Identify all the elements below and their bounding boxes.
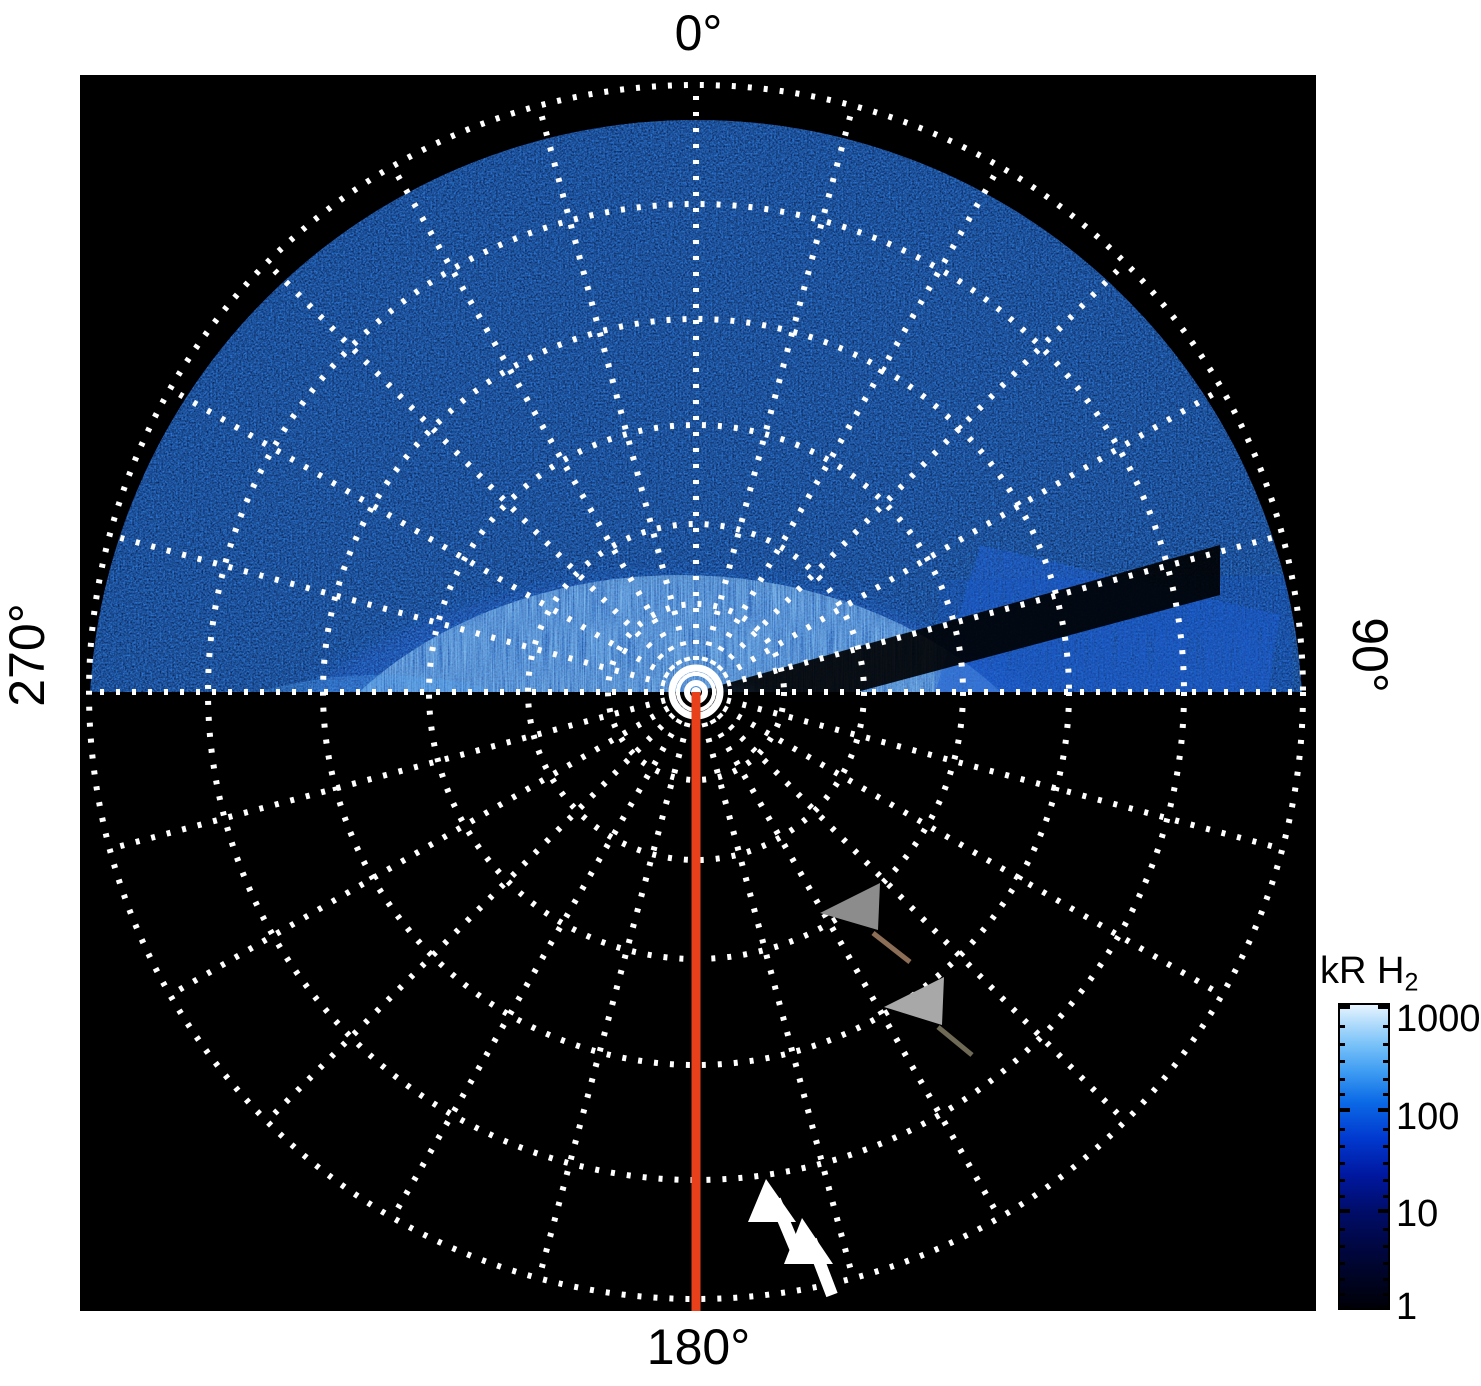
colorbar-minor-tick xyxy=(1338,1145,1345,1148)
polar-plot-canvas xyxy=(80,75,1316,1311)
colorbar-minor-tick xyxy=(1383,1128,1390,1131)
colorbar-minor-tick xyxy=(1383,1228,1390,1231)
colorbar-minor-tick xyxy=(1383,1043,1390,1046)
colorbar-minor-tick xyxy=(1383,1093,1390,1096)
colorbar-minor-tick xyxy=(1338,1293,1345,1296)
colorbar-minor-tick xyxy=(1338,1025,1345,1028)
colorbar-minor-tick xyxy=(1338,1162,1345,1165)
colorbar-ticklabel-1000: 1000 xyxy=(1396,1000,1481,1038)
axis-label-90deg: 90° xyxy=(1345,585,1395,725)
colorbar-ticklabel-1: 1 xyxy=(1396,1288,1417,1326)
colorbar-minor-tick xyxy=(1383,1195,1390,1198)
colorbar-minor-tick xyxy=(1383,1293,1390,1296)
polar-aurora-figure: 0° 180° 270° 90° xyxy=(0,0,1481,1386)
colorbar-minor-tick xyxy=(1338,1228,1345,1231)
colorbar-tick-1-right xyxy=(1378,1306,1390,1310)
colorbar-tick-10 xyxy=(1338,1209,1350,1213)
colorbar-title: kR H2 xyxy=(1320,950,1418,998)
colorbar-minor-tick xyxy=(1383,1162,1390,1165)
colorbar-minor-tick xyxy=(1383,1278,1390,1281)
colorbar-minor-tick xyxy=(1338,1078,1345,1081)
colorbar-minor-tick xyxy=(1383,1179,1390,1182)
colorbar-ticklabel-100: 100 xyxy=(1396,1098,1459,1136)
colorbar-minor-tick xyxy=(1338,1093,1345,1096)
colorbar: kR H2 xyxy=(1320,950,1481,1330)
colorbar-minor-tick xyxy=(1338,1262,1345,1265)
colorbar-ticklabel-10: 10 xyxy=(1396,1195,1438,1233)
colorbar-minor-tick xyxy=(1383,1262,1390,1265)
colorbar-tick-1 xyxy=(1338,1306,1350,1310)
axis-label-180deg: 180° xyxy=(0,1322,1397,1372)
axis-label-0deg: 0° xyxy=(0,8,1397,58)
colorbar-tick-100 xyxy=(1338,1108,1350,1112)
colorbar-minor-tick xyxy=(1383,1025,1390,1028)
colorbar-title-main: kR H xyxy=(1320,950,1404,992)
colorbar-minor-tick xyxy=(1338,1278,1345,1281)
colorbar-minor-tick xyxy=(1338,1179,1345,1182)
colorbar-minor-tick xyxy=(1383,1078,1390,1081)
colorbar-minor-tick xyxy=(1338,1060,1345,1063)
colorbar-tick-10-right xyxy=(1378,1209,1390,1213)
colorbar-minor-tick xyxy=(1338,1043,1345,1046)
colorbar-minor-tick xyxy=(1383,1060,1390,1063)
colorbar-tick-100-right xyxy=(1378,1108,1390,1112)
colorbar-tick-1000 xyxy=(1338,1005,1350,1009)
colorbar-tick-1000-right xyxy=(1378,1005,1390,1009)
colorbar-title-subscript: 2 xyxy=(1404,969,1418,997)
axis-label-270deg: 270° xyxy=(2,585,52,725)
polar-plot-panel xyxy=(80,75,1316,1311)
colorbar-minor-tick xyxy=(1383,1245,1390,1248)
colorbar-minor-tick xyxy=(1383,1145,1390,1148)
colorbar-minor-tick xyxy=(1338,1128,1345,1131)
colorbar-minor-tick xyxy=(1338,1245,1345,1248)
colorbar-minor-tick xyxy=(1338,1195,1345,1198)
